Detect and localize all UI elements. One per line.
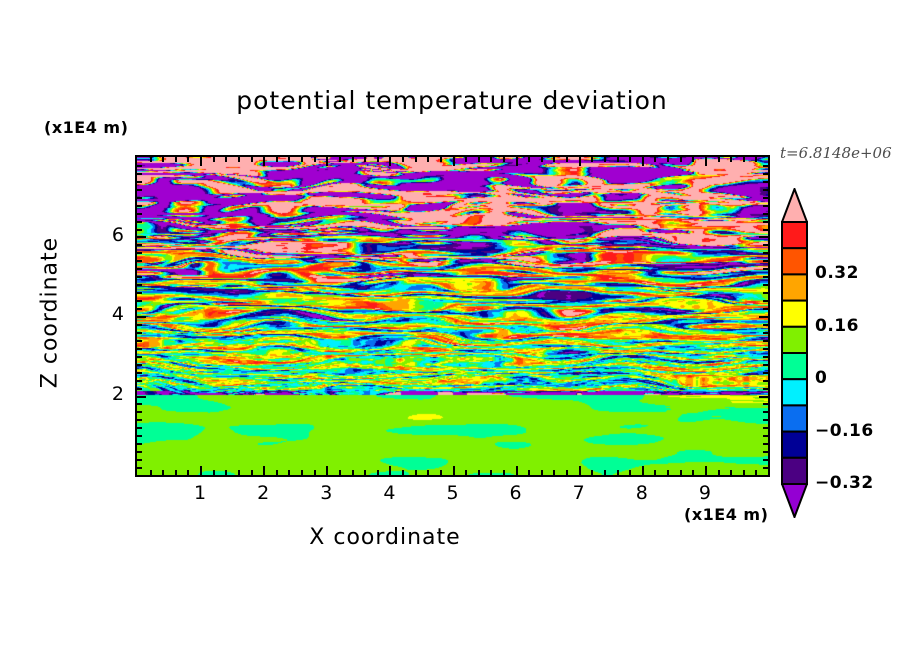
axis-tick [137, 380, 142, 382]
axis-tick [528, 470, 530, 475]
axis-tick [137, 252, 142, 254]
axis-tick [137, 411, 142, 413]
axis-tick [137, 213, 142, 215]
axis-tick [654, 470, 656, 475]
axis-tick [326, 466, 328, 475]
y-axis-title: Z coordinate [38, 203, 63, 423]
axis-tick [579, 466, 581, 475]
colorbar-tick-label: 0.32 [815, 263, 859, 283]
axis-tick [763, 388, 768, 390]
axis-tick [415, 470, 417, 475]
axis-tick [137, 324, 142, 326]
axis-tick [763, 348, 768, 350]
axis-tick [642, 157, 644, 166]
axis-tick [763, 221, 768, 223]
axis-tick [200, 157, 202, 166]
axis-tick [137, 268, 142, 270]
axis-tick [503, 157, 505, 162]
axis-tick [137, 443, 142, 445]
axis-tick [137, 364, 142, 366]
axis-tick [137, 348, 142, 350]
axis-tick [642, 466, 644, 475]
axis-tick [453, 157, 455, 166]
axis-tick [137, 451, 142, 453]
axis-tick [137, 388, 142, 390]
axis-tick [402, 470, 404, 475]
axis-tick [759, 396, 768, 398]
axis-tick [352, 157, 354, 162]
axis-tick [427, 157, 429, 162]
colorbar-tick-label: 0.16 [815, 316, 859, 336]
axis-tick [213, 157, 215, 162]
axis-tick [137, 356, 142, 358]
axis-tick [617, 470, 619, 475]
axis-tick [137, 427, 142, 429]
axis-tick [137, 459, 142, 461]
axis-tick [137, 189, 142, 191]
axis-tick [288, 470, 290, 475]
axis-tick [718, 157, 720, 162]
x-tick-label: 4 [369, 482, 409, 504]
axis-tick [251, 470, 253, 475]
axis-tick [763, 443, 768, 445]
axis-tick [162, 157, 164, 162]
axis-tick [516, 466, 518, 475]
axis-tick [705, 157, 707, 166]
axis-tick [238, 470, 240, 475]
axis-tick [465, 157, 467, 162]
axis-tick [478, 157, 480, 162]
axis-tick [137, 173, 142, 175]
axis-tick [680, 470, 682, 475]
axis-tick [389, 466, 391, 475]
axis-tick [137, 260, 142, 262]
axis-tick [137, 292, 142, 294]
axis-tick [680, 157, 682, 162]
axis-tick [763, 229, 768, 231]
axis-tick [763, 292, 768, 294]
axis-tick [137, 316, 146, 318]
axis-tick [763, 260, 768, 262]
axis-tick [137, 236, 146, 238]
axis-tick [763, 213, 768, 215]
axis-tick [763, 419, 768, 421]
axis-tick [137, 396, 146, 398]
axis-tick [743, 470, 745, 475]
axis-tick [743, 157, 745, 162]
temperature-deviation-field [137, 157, 768, 475]
axis-tick [301, 470, 303, 475]
axis-tick [591, 470, 593, 475]
axis-tick [768, 470, 770, 475]
axis-tick [763, 284, 768, 286]
axis-tick [692, 470, 694, 475]
axis-tick [692, 157, 694, 162]
axis-tick [763, 189, 768, 191]
axis-tick [137, 205, 142, 207]
axis-tick [137, 435, 142, 437]
axis-tick [667, 470, 669, 475]
axis-tick [339, 157, 341, 162]
axis-tick [137, 229, 142, 231]
y-tick-label: 4 [96, 303, 124, 325]
x-tick-label: 3 [306, 482, 346, 504]
axis-tick [364, 470, 366, 475]
axis-tick [478, 470, 480, 475]
axis-tick [187, 470, 189, 475]
axis-tick [604, 470, 606, 475]
axis-tick [566, 157, 568, 162]
axis-tick [755, 157, 757, 162]
axis-tick [440, 470, 442, 475]
axis-tick [175, 470, 177, 475]
axis-tick [604, 157, 606, 162]
axis-tick [137, 276, 142, 278]
axis-tick [763, 197, 768, 199]
axis-tick [763, 308, 768, 310]
axis-tick [137, 197, 142, 199]
axis-tick [377, 470, 379, 475]
axis-tick [137, 221, 142, 223]
page-title: potential temperature deviation [0, 86, 904, 115]
y-axis-unit-label: (x1E4 m) [44, 118, 128, 137]
axis-tick [352, 470, 354, 475]
y-tick-label: 2 [96, 383, 124, 405]
axis-tick [415, 157, 417, 162]
axis-tick [150, 157, 152, 162]
axis-tick [768, 157, 770, 162]
axis-tick [137, 467, 142, 469]
axis-tick [326, 157, 328, 166]
colorbar-tick-label: 0 [815, 368, 827, 388]
axis-tick [288, 157, 290, 162]
y-tick-label: 6 [96, 224, 124, 246]
axis-tick [763, 459, 768, 461]
axis-tick [137, 300, 142, 302]
axis-tick [137, 403, 142, 405]
axis-tick [763, 380, 768, 382]
axis-tick [137, 419, 142, 421]
axis-tick [137, 244, 142, 246]
axis-tick [263, 157, 265, 166]
axis-tick [763, 324, 768, 326]
axis-tick [763, 268, 768, 270]
time-annotation: t=6.8148e+06 [780, 144, 892, 162]
axis-tick [553, 157, 555, 162]
axis-tick [314, 157, 316, 162]
axis-tick [541, 157, 543, 162]
axis-tick [187, 157, 189, 162]
axis-tick [654, 157, 656, 162]
axis-tick [137, 340, 142, 342]
axis-tick [667, 157, 669, 162]
axis-tick [200, 466, 202, 475]
axis-tick [364, 157, 366, 162]
x-axis-unit-label: (x1E4 m) [684, 505, 768, 524]
axis-tick [763, 451, 768, 453]
axis-tick [339, 470, 341, 475]
axis-tick [763, 181, 768, 183]
axis-tick [763, 467, 768, 469]
axis-tick [718, 470, 720, 475]
axis-tick [137, 332, 142, 334]
axis-tick [453, 466, 455, 475]
axis-tick [314, 470, 316, 475]
x-tick-label: 7 [559, 482, 599, 504]
axis-tick [591, 157, 593, 162]
axis-tick [763, 435, 768, 437]
x-tick-label: 5 [433, 482, 473, 504]
axis-tick [162, 470, 164, 475]
axis-tick [763, 276, 768, 278]
axis-tick [301, 157, 303, 162]
axis-tick [377, 157, 379, 162]
axis-tick [137, 165, 142, 167]
axis-tick [516, 157, 518, 166]
x-tick-label: 8 [622, 482, 662, 504]
axis-tick [276, 157, 278, 162]
axis-tick [402, 157, 404, 162]
axis-tick [553, 470, 555, 475]
axis-tick [440, 157, 442, 162]
axis-tick [763, 340, 768, 342]
axis-tick [763, 332, 768, 334]
axis-tick [730, 470, 732, 475]
axis-tick [617, 157, 619, 162]
axis-tick [276, 470, 278, 475]
axis-tick [490, 470, 492, 475]
axis-tick [763, 372, 768, 374]
axis-tick [763, 356, 768, 358]
x-tick-label: 9 [685, 482, 725, 504]
axis-tick [528, 157, 530, 162]
axis-tick [389, 157, 391, 166]
axis-tick [763, 403, 768, 405]
axis-tick [759, 316, 768, 318]
x-tick-label: 6 [496, 482, 536, 504]
axis-tick [238, 157, 240, 162]
axis-tick [763, 427, 768, 429]
axis-tick [763, 364, 768, 366]
axis-tick [566, 470, 568, 475]
axis-tick [579, 157, 581, 166]
axis-tick [759, 236, 768, 238]
axis-tick [137, 284, 142, 286]
axis-tick [263, 466, 265, 475]
axis-tick [763, 300, 768, 302]
axis-tick [490, 157, 492, 162]
axis-tick [137, 308, 142, 310]
axis-tick [629, 470, 631, 475]
axis-tick [465, 470, 467, 475]
contour-plot-area [135, 155, 770, 477]
colorbar-tick-label: −0.32 [815, 473, 874, 493]
axis-tick [763, 205, 768, 207]
axis-tick [730, 157, 732, 162]
axis-tick [137, 181, 142, 183]
axis-tick [755, 470, 757, 475]
axis-tick [705, 466, 707, 475]
axis-tick [541, 470, 543, 475]
axis-tick [629, 157, 631, 162]
axis-tick [763, 173, 768, 175]
axis-tick [427, 470, 429, 475]
colorbar-tick-label: −0.16 [815, 421, 874, 441]
x-axis-title: X coordinate [0, 525, 770, 550]
axis-tick [763, 252, 768, 254]
axis-tick [213, 470, 215, 475]
axis-tick [251, 157, 253, 162]
axis-tick [225, 157, 227, 162]
axis-tick [763, 244, 768, 246]
axis-tick [150, 470, 152, 475]
axis-tick [763, 411, 768, 413]
x-tick-label: 2 [243, 482, 283, 504]
colorbar [781, 188, 808, 518]
axis-tick [175, 157, 177, 162]
axis-tick [225, 470, 227, 475]
axis-tick [137, 372, 142, 374]
axis-tick [503, 470, 505, 475]
axis-tick [763, 165, 768, 167]
x-tick-label: 1 [180, 482, 220, 504]
